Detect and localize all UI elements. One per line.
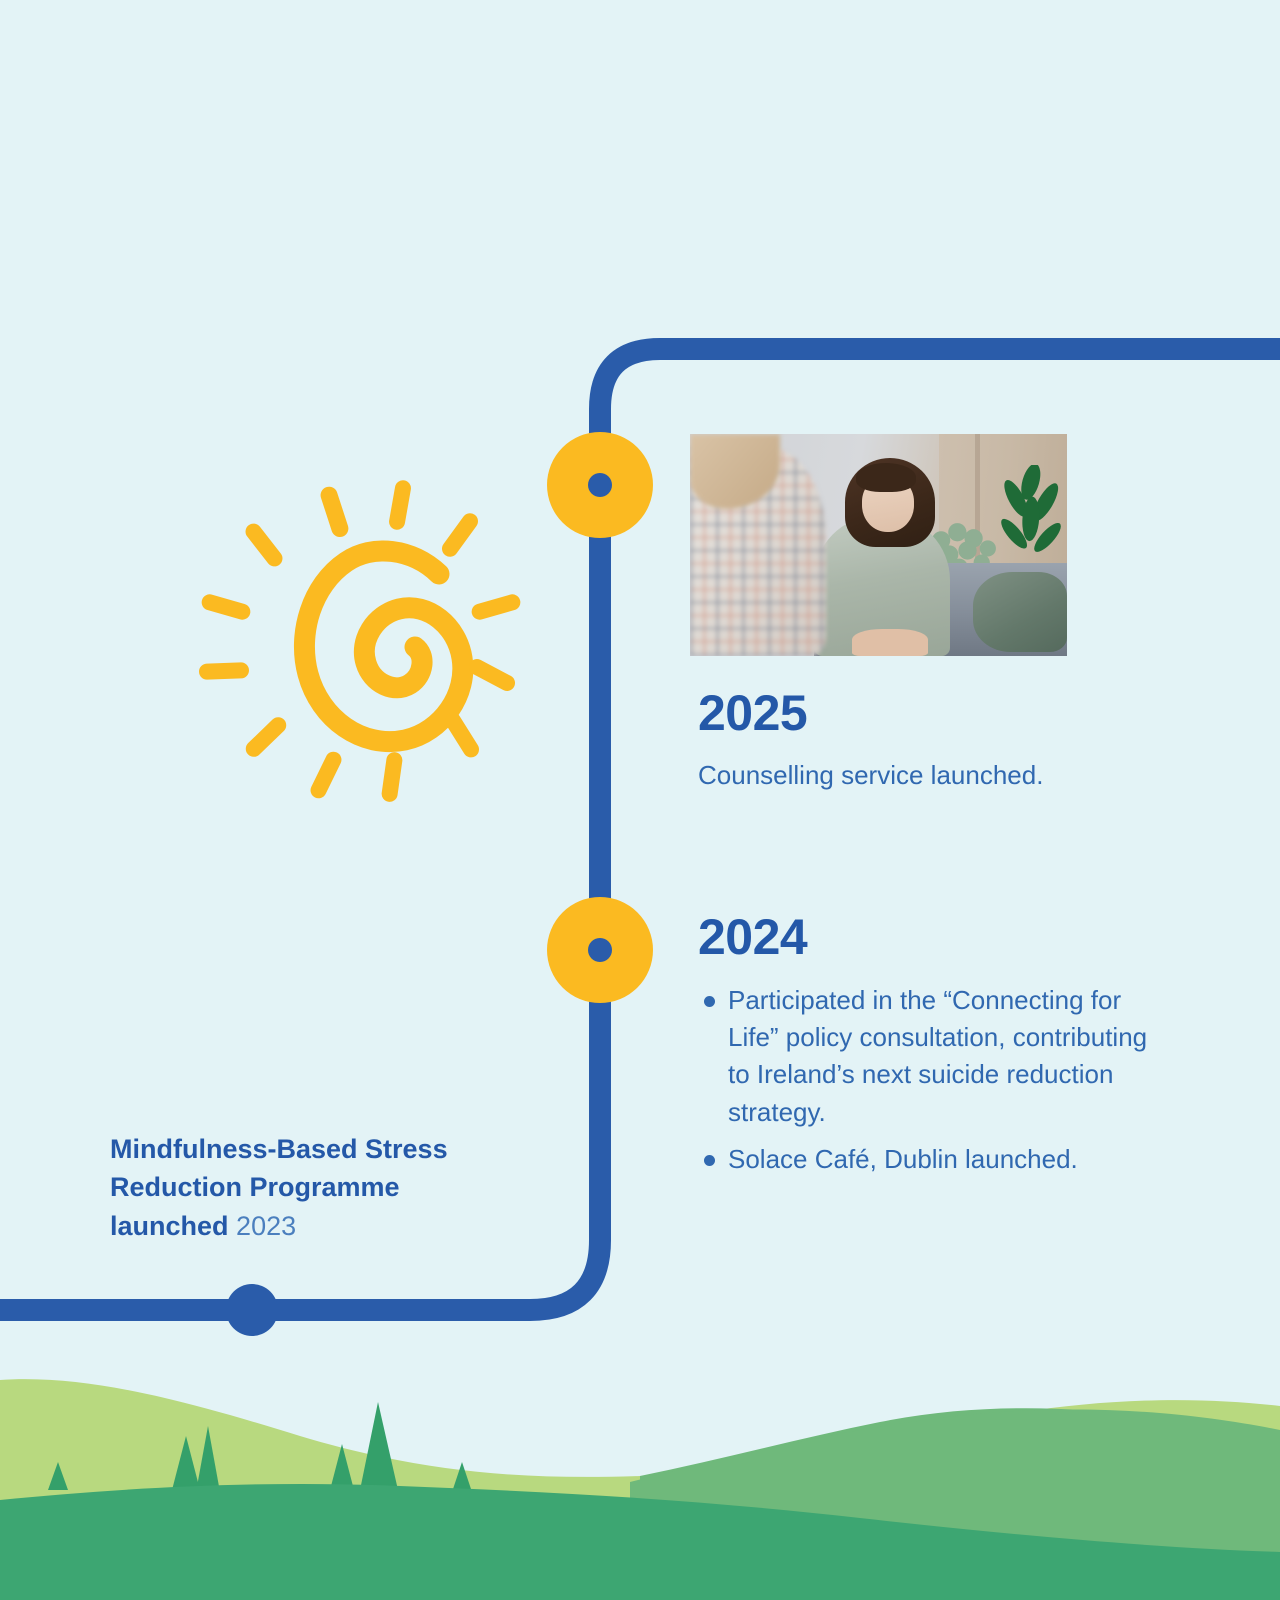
year-heading-2025: 2025 [698, 688, 807, 738]
photo-client-hands [852, 629, 927, 656]
pine-tree [360, 1402, 398, 1490]
caption-2025: Counselling service launched. [698, 758, 1168, 793]
label-2023-year: 2023 [236, 1211, 296, 1241]
infographic-canvas: 2025 Counselling service launched. 2024 … [0, 0, 1280, 1600]
timeline-node-2023 [226, 1284, 278, 1336]
photo-cushion-green [973, 572, 1067, 652]
list-item: Solace Café, Dublin launched. [698, 1141, 1148, 1178]
sun-spiral-illustration [196, 478, 536, 808]
rolling-hills-with-pine-trees [0, 1340, 1280, 1600]
timeline-node-2025 [547, 432, 653, 538]
node-core-dot [588, 473, 612, 497]
year-heading-2024: 2024 [698, 912, 807, 962]
node-core-dot [588, 938, 612, 962]
timeline-node-2024 [547, 897, 653, 1003]
bullet-list-2024: Participated in the “Connecting for Life… [698, 982, 1148, 1188]
photo-client-fringe [856, 463, 916, 492]
counselling-session-photo [690, 434, 1067, 656]
list-item: Participated in the “Connecting for Life… [698, 982, 1148, 1131]
label-2023: Mindfulness-Based Stress Reduction Progr… [110, 1130, 510, 1245]
